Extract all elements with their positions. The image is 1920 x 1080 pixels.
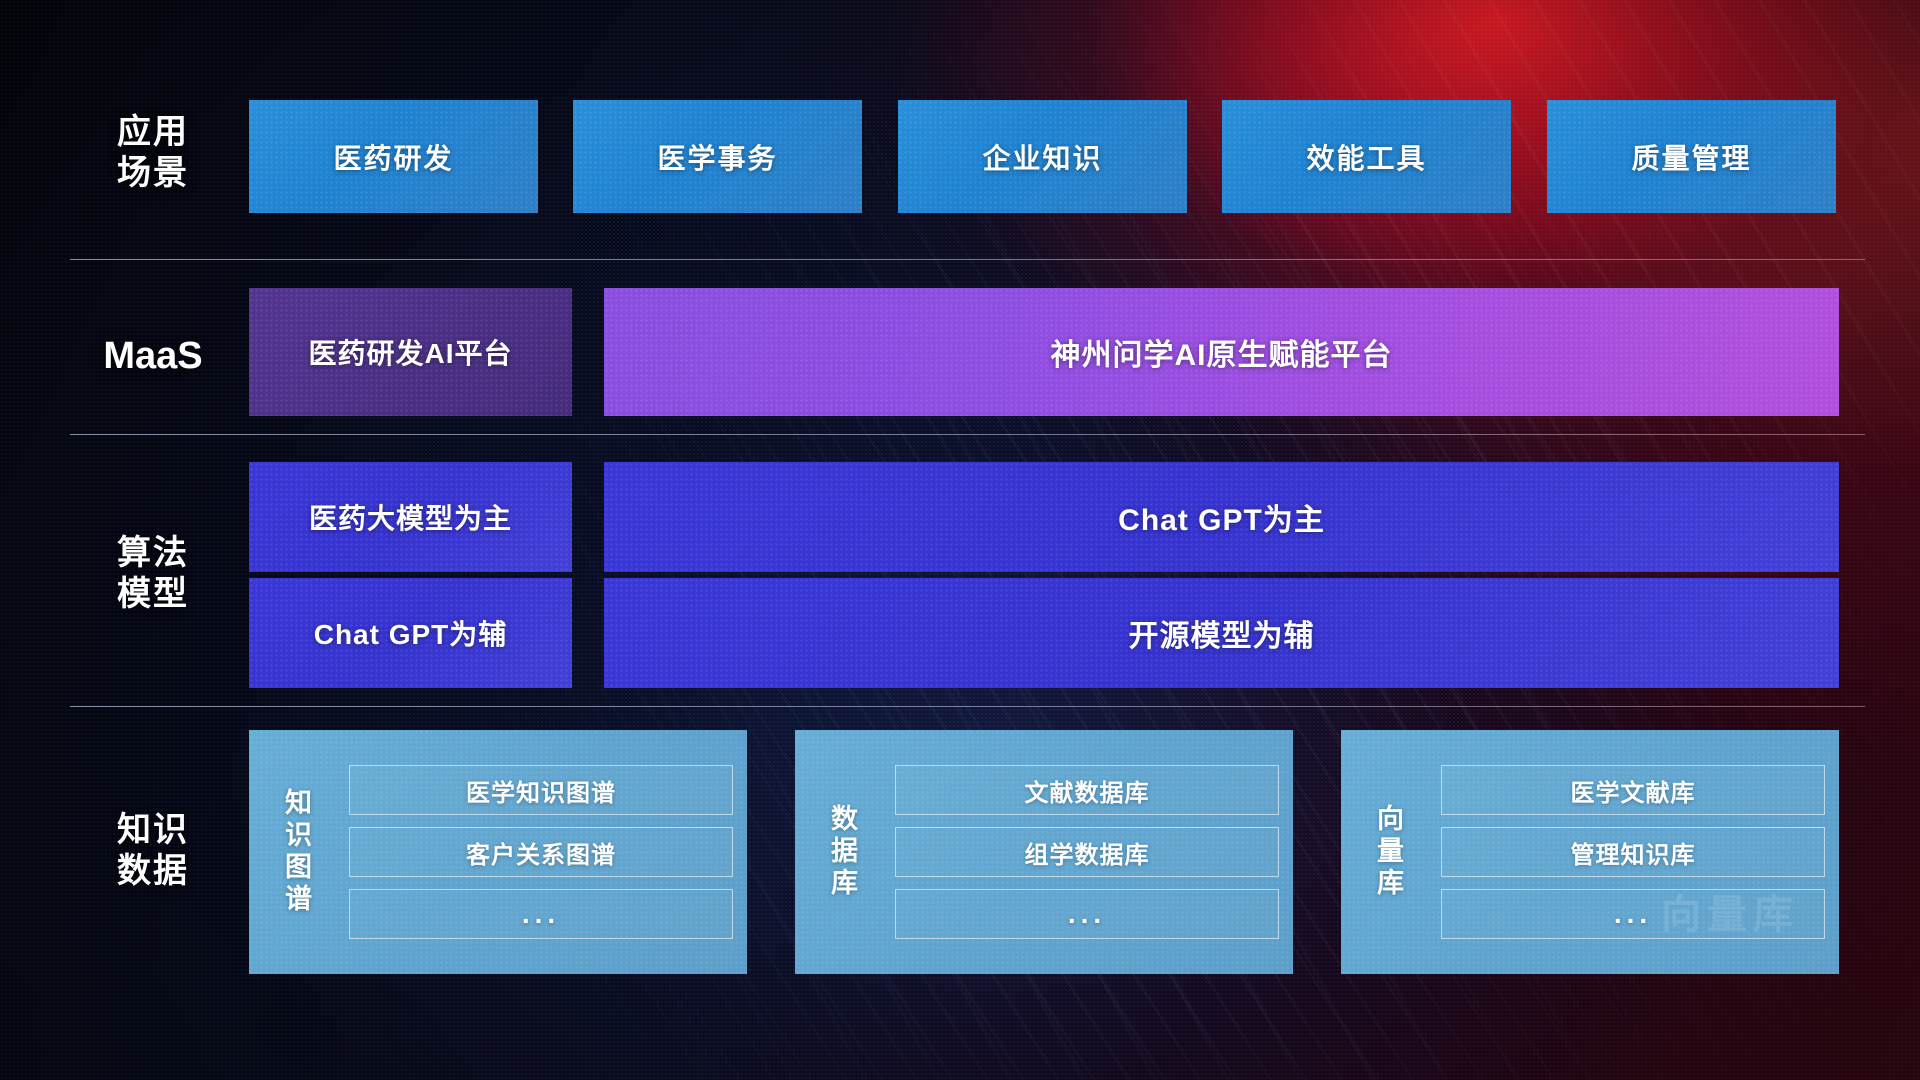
knowledge-item-omics-database[interactable]: 组学数据库	[895, 827, 1279, 877]
knowledge-card-title-vector-store: 向 量 库	[1351, 804, 1431, 900]
knowledge-card-title-knowledge-graph: 知 识 图 谱	[259, 788, 339, 915]
knowledge-card-item-list: 文献数据库 组学数据库 ...	[885, 765, 1279, 939]
divider-after-algorithm-model	[70, 706, 1865, 707]
diagram-canvas: 应用 场景 医药研发 医学事务 企业知识 效能工具 质量管理 MaaS 医药研发…	[0, 0, 1920, 1080]
knowledge-item-literature-database[interactable]: 文献数据库	[895, 765, 1279, 815]
knowledge-card-vector-store[interactable]: 向 量 库 医学文献库 管理知识库 ... 向量库	[1341, 730, 1839, 974]
row-label-algorithm-model: 算法 模型	[78, 533, 228, 616]
maas-box-medicine-rd-ai-platform[interactable]: 医药研发AI平台	[249, 288, 572, 416]
alg-box-pharma-large-model-primary[interactable]: 医药大模型为主	[249, 462, 572, 572]
app-box-quality-management[interactable]: 质量管理	[1547, 100, 1836, 213]
knowledge-item-more-ellipsis[interactable]: ...	[895, 889, 1279, 939]
knowledge-item-more-ellipsis[interactable]: ...	[349, 889, 733, 939]
knowledge-item-medical-literature-store[interactable]: 医学文献库	[1441, 765, 1825, 815]
app-box-enterprise-knowledge[interactable]: 企业知识	[898, 100, 1187, 213]
alg-box-opensource-model-secondary[interactable]: 开源模型为辅	[604, 578, 1839, 688]
knowledge-item-management-knowledge-store[interactable]: 管理知识库	[1441, 827, 1825, 877]
divider-after-maas	[70, 434, 1865, 435]
alg-box-chatgpt-secondary[interactable]: Chat GPT为辅	[249, 578, 572, 688]
app-box-medical-affairs[interactable]: 医学事务	[573, 100, 862, 213]
knowledge-item-customer-relation-graph[interactable]: 客户关系图谱	[349, 827, 733, 877]
knowledge-card-title-database: 数 据 库	[805, 804, 885, 900]
app-box-efficiency-tools[interactable]: 效能工具	[1222, 100, 1511, 213]
alg-box-chatgpt-primary[interactable]: Chat GPT为主	[604, 462, 1839, 572]
app-box-medicine-rd[interactable]: 医药研发	[249, 100, 538, 213]
divider-after-application-scenario	[70, 259, 1865, 260]
row-label-maas: MaaS	[78, 333, 228, 379]
knowledge-card-database[interactable]: 数 据 库 文献数据库 组学数据库 ...	[795, 730, 1293, 974]
knowledge-card-knowledge-graph[interactable]: 知 识 图 谱 医学知识图谱 客户关系图谱 ...	[249, 730, 747, 974]
knowledge-item-more-ellipsis[interactable]: ...	[1441, 889, 1825, 939]
knowledge-card-item-list: 医学文献库 管理知识库 ...	[1431, 765, 1825, 939]
knowledge-card-item-list: 医学知识图谱 客户关系图谱 ...	[339, 765, 733, 939]
row-label-application-scenario: 应用 场景	[78, 112, 228, 195]
row-label-knowledge-data: 知识 数据	[78, 810, 228, 893]
knowledge-item-medical-knowledge-graph[interactable]: 医学知识图谱	[349, 765, 733, 815]
maas-box-shenzhou-wenxue-platform[interactable]: 神州问学AI原生赋能平台	[604, 288, 1839, 416]
